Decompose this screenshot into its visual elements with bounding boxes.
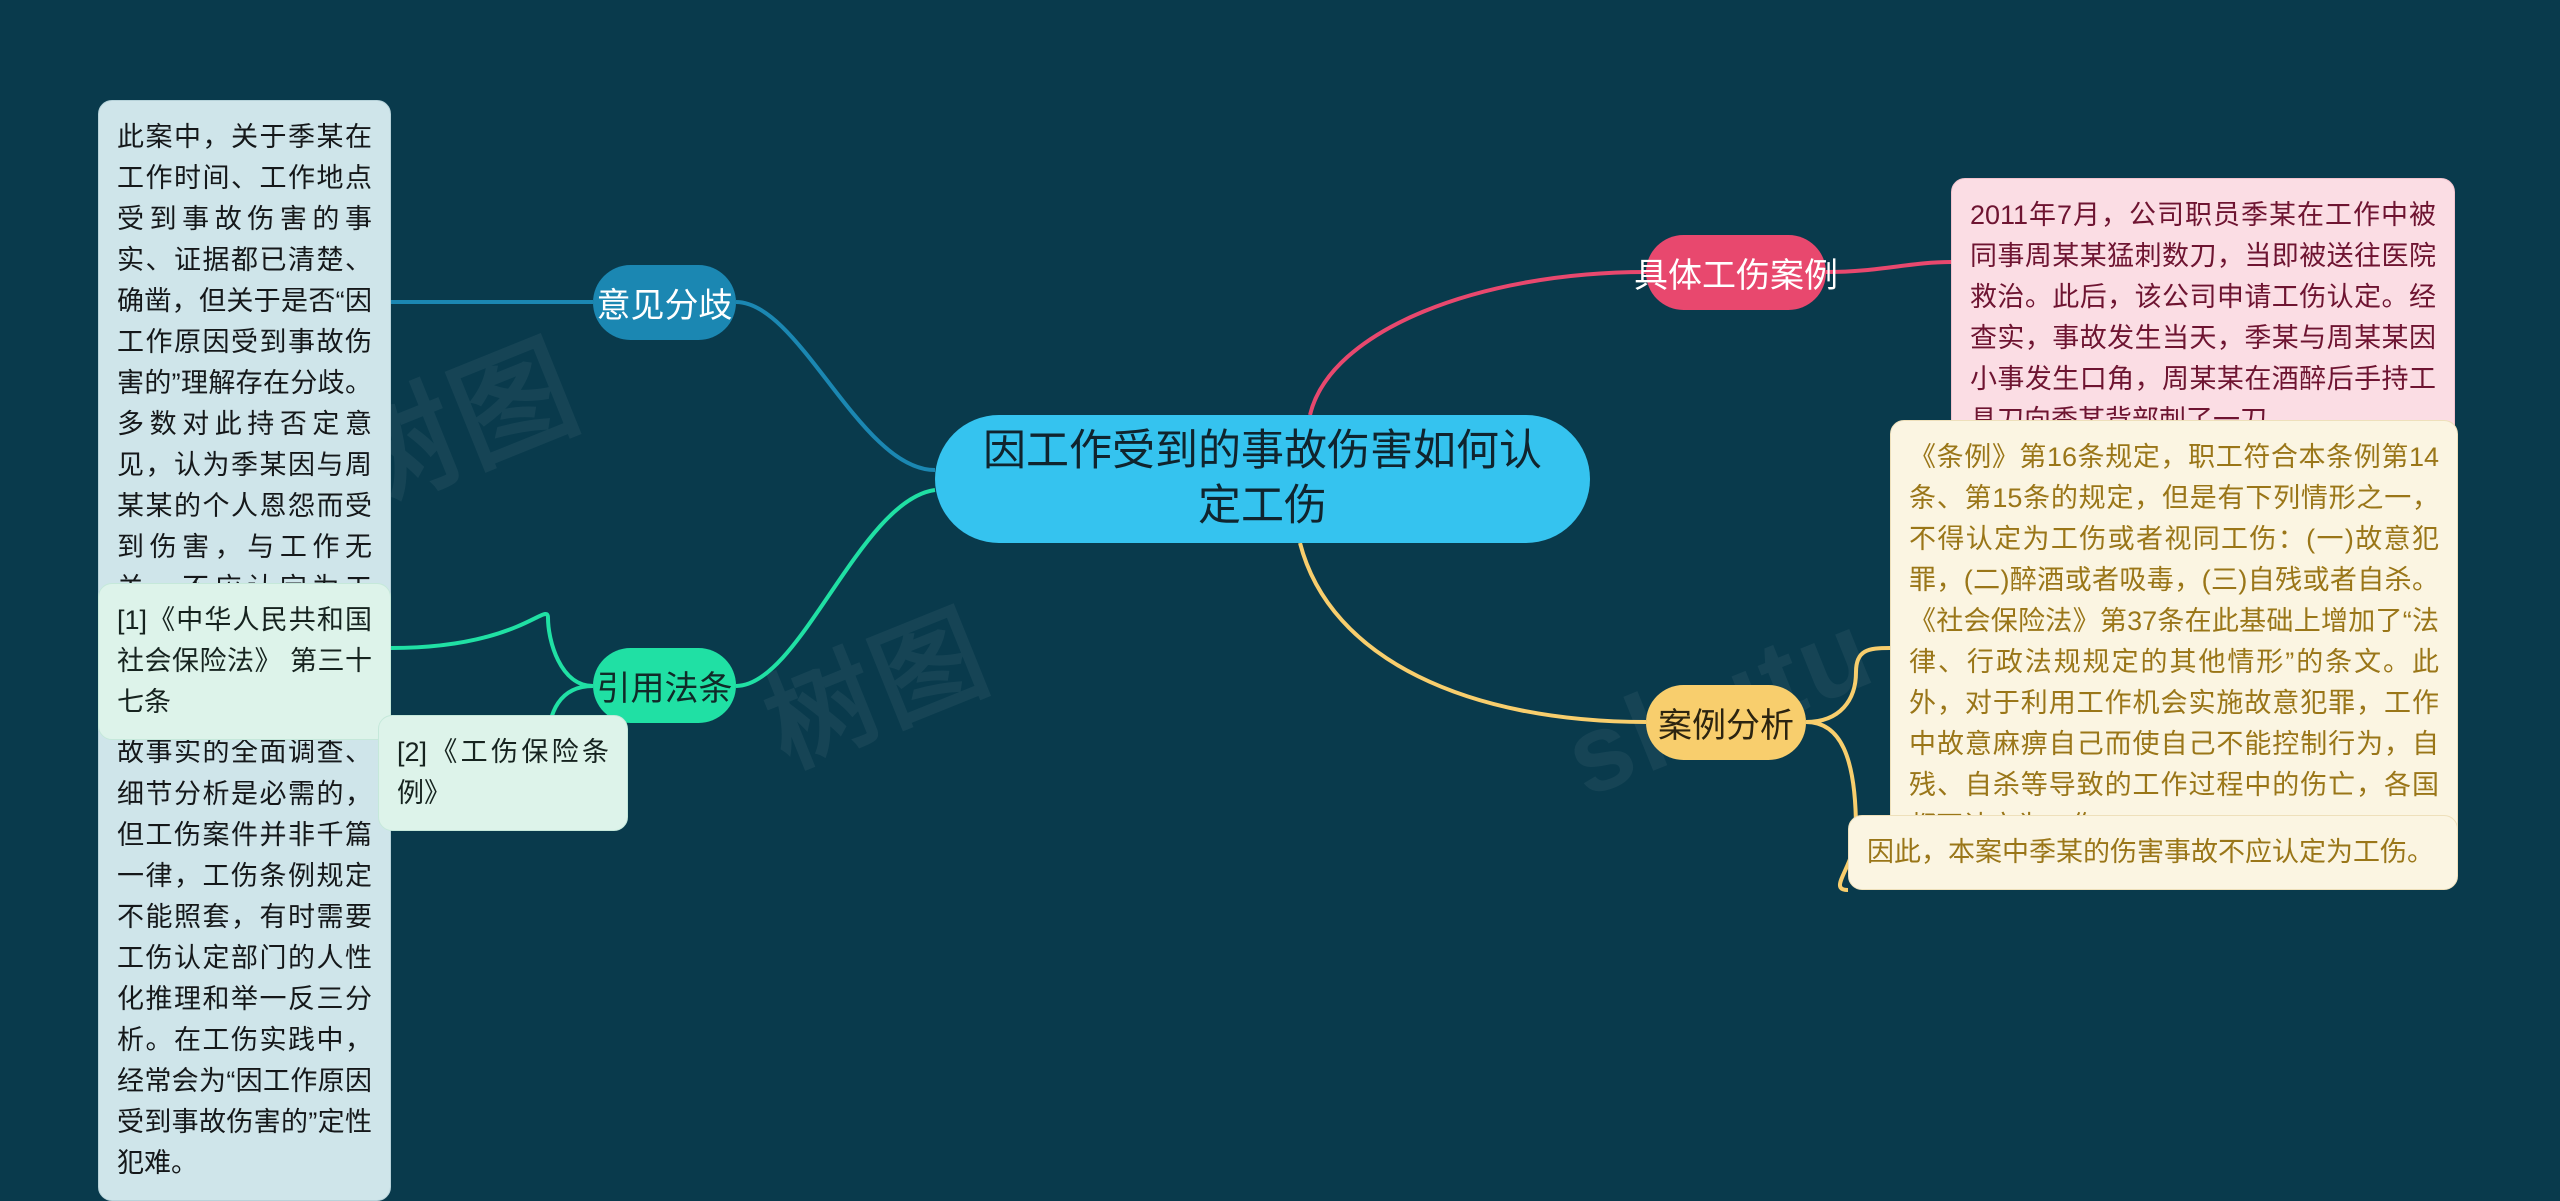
leaf-node-law-2[interactable]: [2]《工伤保险条例》 — [378, 715, 628, 831]
link-law-leaf1 — [391, 614, 593, 686]
link-root-analysis — [1300, 543, 1646, 722]
leaf-node-case-detail[interactable]: 2011年7月，公司职员季某在工作中被同事周某某猛刺数刀，当即被送往医院救治。此… — [1951, 178, 2455, 458]
leaf-node-analysis-1[interactable]: 《条例》第16条规定，职工符合本条例第14条、第15条的规定，但是有下列情形之一… — [1890, 420, 2458, 864]
link-analysis-leaf1 — [1806, 648, 1890, 722]
watermark-text: 树图 — [738, 563, 1009, 797]
branch-node-opinion[interactable]: 意见分歧 — [593, 265, 736, 340]
leaf-node-law-1[interactable]: [1]《中华人民共和国社会保险法》 第三十七条 — [98, 583, 391, 740]
mindmap-canvas: 树图 树图 shutu.cn www shutu 因工作受到的事故伤害如何认定工… — [0, 0, 2560, 1004]
link-root-law — [736, 490, 935, 686]
root-node[interactable]: 因工作受到的事故伤害如何认定工伤 — [935, 415, 1590, 543]
branch-node-law[interactable]: 引用法条 — [593, 648, 736, 723]
link-root-case — [1310, 272, 1646, 415]
branch-node-analysis[interactable]: 案例分析 — [1646, 685, 1806, 760]
branch-node-case[interactable]: 具体工伤案例 — [1646, 235, 1826, 310]
link-root-opinion — [736, 302, 935, 470]
leaf-node-analysis-2[interactable]: 因此，本案中季某的伤害事故不应认定为工伤。 — [1848, 815, 2458, 890]
link-case-leaf — [1826, 262, 1951, 272]
